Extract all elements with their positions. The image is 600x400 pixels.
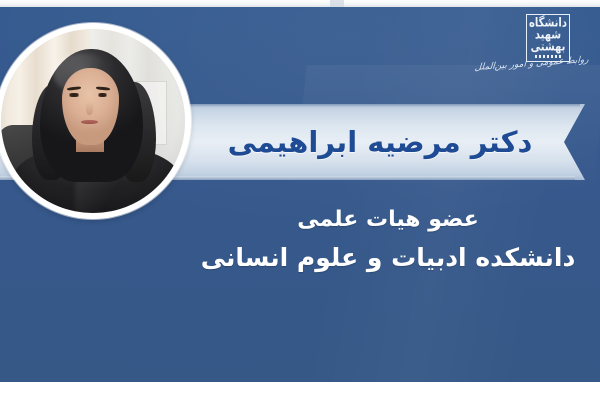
profile-card: دکتر مرضیه ابراهیمی عضو هیات علمی دانشکد… — [0, 0, 600, 400]
top-edge-strip — [0, 0, 600, 7]
avatar-photo — [1, 29, 185, 213]
logo-script-line: روابط عمومی و امور بین‌الملل — [475, 55, 589, 93]
person-name: دکتر مرضیه ابراهیمی — [228, 125, 533, 159]
university-logo: دانشگاه شهید بهشتی روابط عمومی و امور بی… — [474, 11, 592, 91]
subtitle-role: عضو هیات علمی — [190, 203, 586, 237]
avatar — [0, 23, 191, 219]
top-edge-tick — [330, 0, 344, 7]
subtitle-faculty: دانشکده ادبیات و علوم انسانی — [190, 239, 586, 277]
bottom-white-strip — [0, 382, 600, 400]
emblem-line-3: بهشتی — [531, 41, 566, 55]
university-emblem-icon: دانشگاه شهید بهشتی — [526, 14, 570, 62]
photo-vignette — [1, 29, 185, 213]
subtitle-block: عضو هیات علمی دانشکده ادبیات و علوم انسا… — [190, 203, 586, 277]
